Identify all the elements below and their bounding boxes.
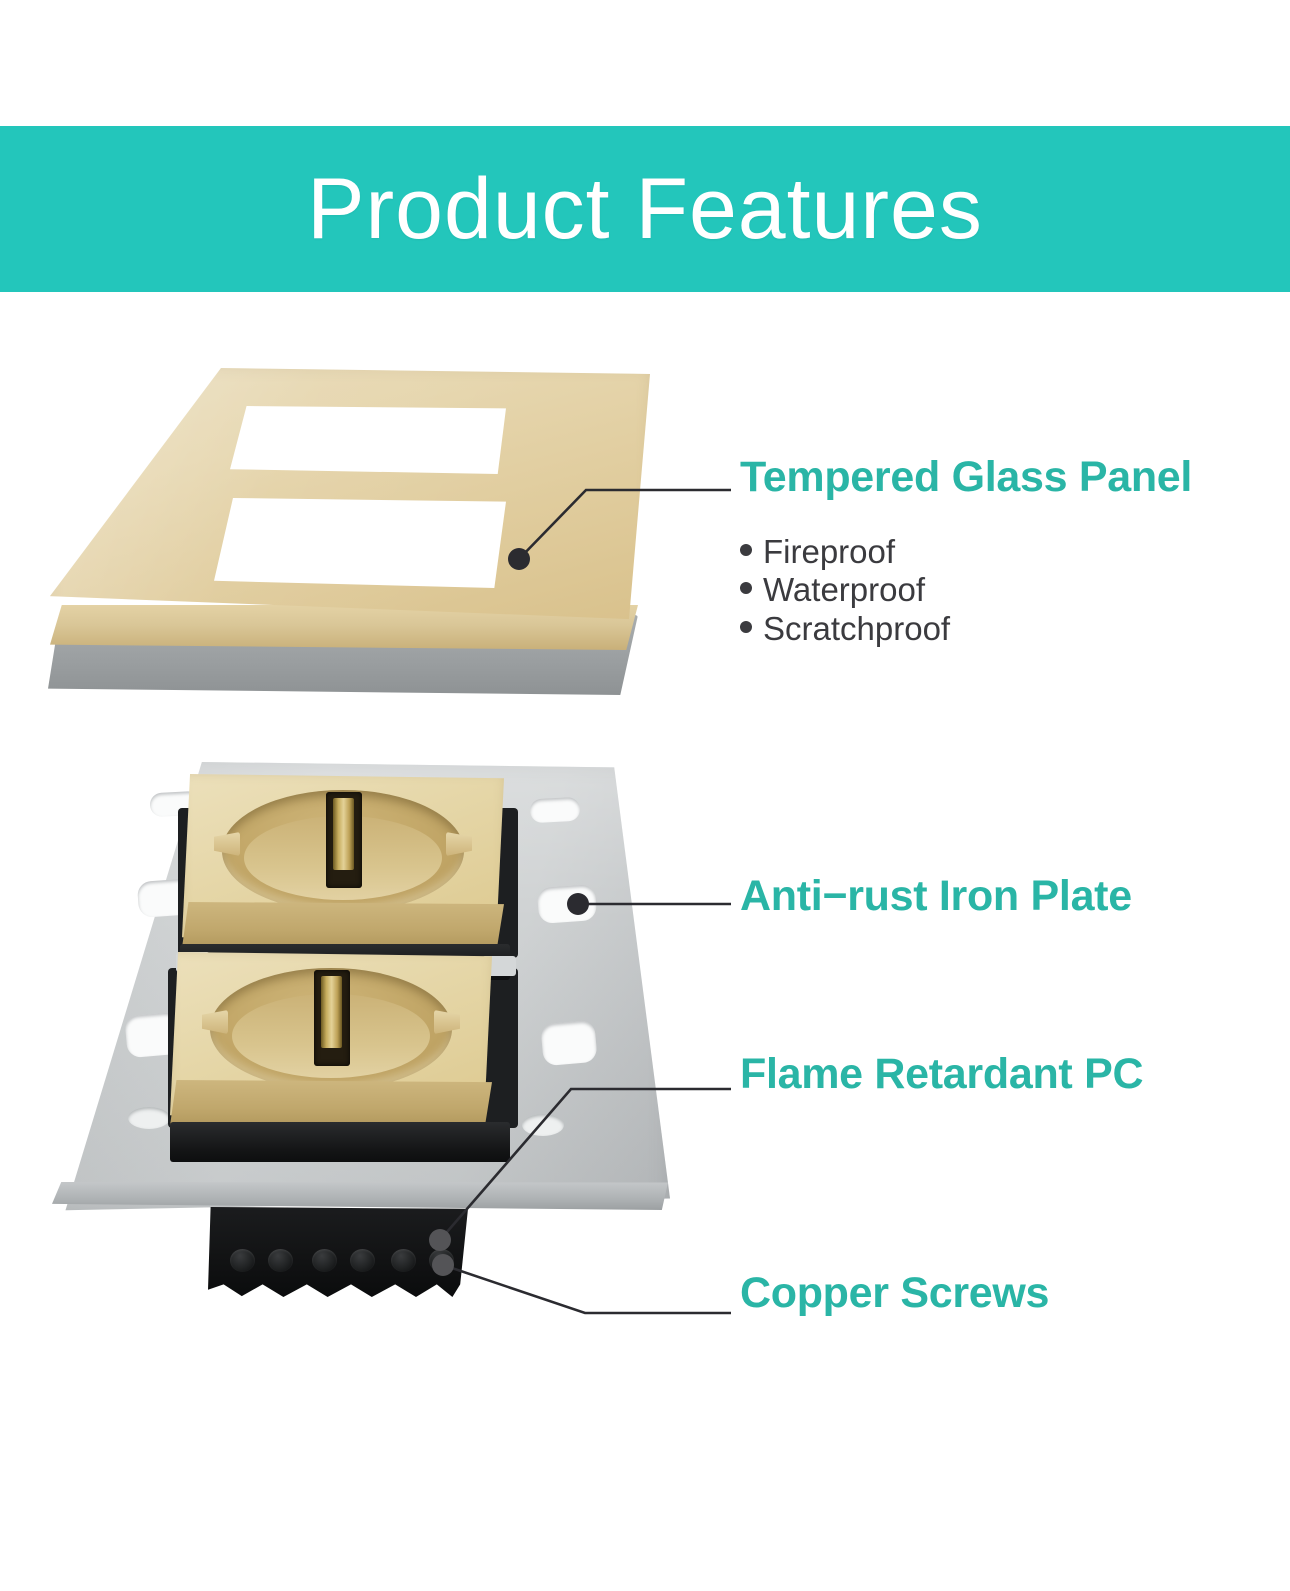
feature-title-tempered-glass-panel: Tempered Glass Panel: [740, 455, 1192, 500]
glass-panel-cutout-lower: [214, 498, 506, 588]
glass-panel-cutout-upper: [230, 406, 506, 474]
feature-bullets-tempered-glass-panel: Fireproof Waterproof Scratchproof: [740, 533, 1160, 648]
feature-title-anti-rust-iron-plate: Anti−rust Iron Plate: [740, 874, 1132, 919]
copper-screw-5: [391, 1249, 416, 1272]
copper-screw-2: [268, 1249, 293, 1272]
bullet-dot-icon: [740, 582, 752, 594]
copper-screw-1: [230, 1249, 255, 1272]
socket-brass-pin-upper: [333, 798, 354, 870]
frame-screw-hole-bottom-left: [128, 1107, 170, 1129]
copper-screw-3: [312, 1249, 337, 1272]
bullet-dot-icon: [740, 621, 752, 633]
list-item: Fireproof: [740, 533, 1160, 571]
flame-retardant-pc-terminal-block: [208, 1207, 468, 1297]
copper-screw-6: [429, 1249, 454, 1272]
socket-module-lower: [170, 952, 492, 1122]
socket-assembly-render: [30, 752, 680, 1312]
bullet-dot-icon: [740, 544, 752, 556]
bullet-label: Waterproof: [763, 571, 925, 609]
bullet-label: Scratchproof: [763, 610, 950, 648]
socket-brass-pin-lower: [321, 976, 342, 1048]
tempered-glass-panel-render: [38, 360, 658, 720]
copper-screw-4: [350, 1249, 375, 1272]
socket-module-upper: [182, 774, 504, 944]
frame-screw-hole-bottom-right: [522, 1114, 564, 1136]
product-illustration-stage: [0, 0, 1290, 1591]
frame-slot-mid-right: [537, 884, 597, 924]
feature-title-copper-screws: Copper Screws: [740, 1271, 1049, 1316]
frame-slot-top-right: [529, 797, 580, 824]
frame-slot-low-right: [540, 1020, 597, 1067]
bullet-label: Fireproof: [763, 533, 895, 571]
list-item: Scratchproof: [740, 610, 1160, 648]
feature-title-flame-retardant-pc: Flame Retardant PC: [740, 1052, 1143, 1097]
pc-body-lower: [170, 1122, 510, 1162]
list-item: Waterproof: [740, 571, 1160, 609]
